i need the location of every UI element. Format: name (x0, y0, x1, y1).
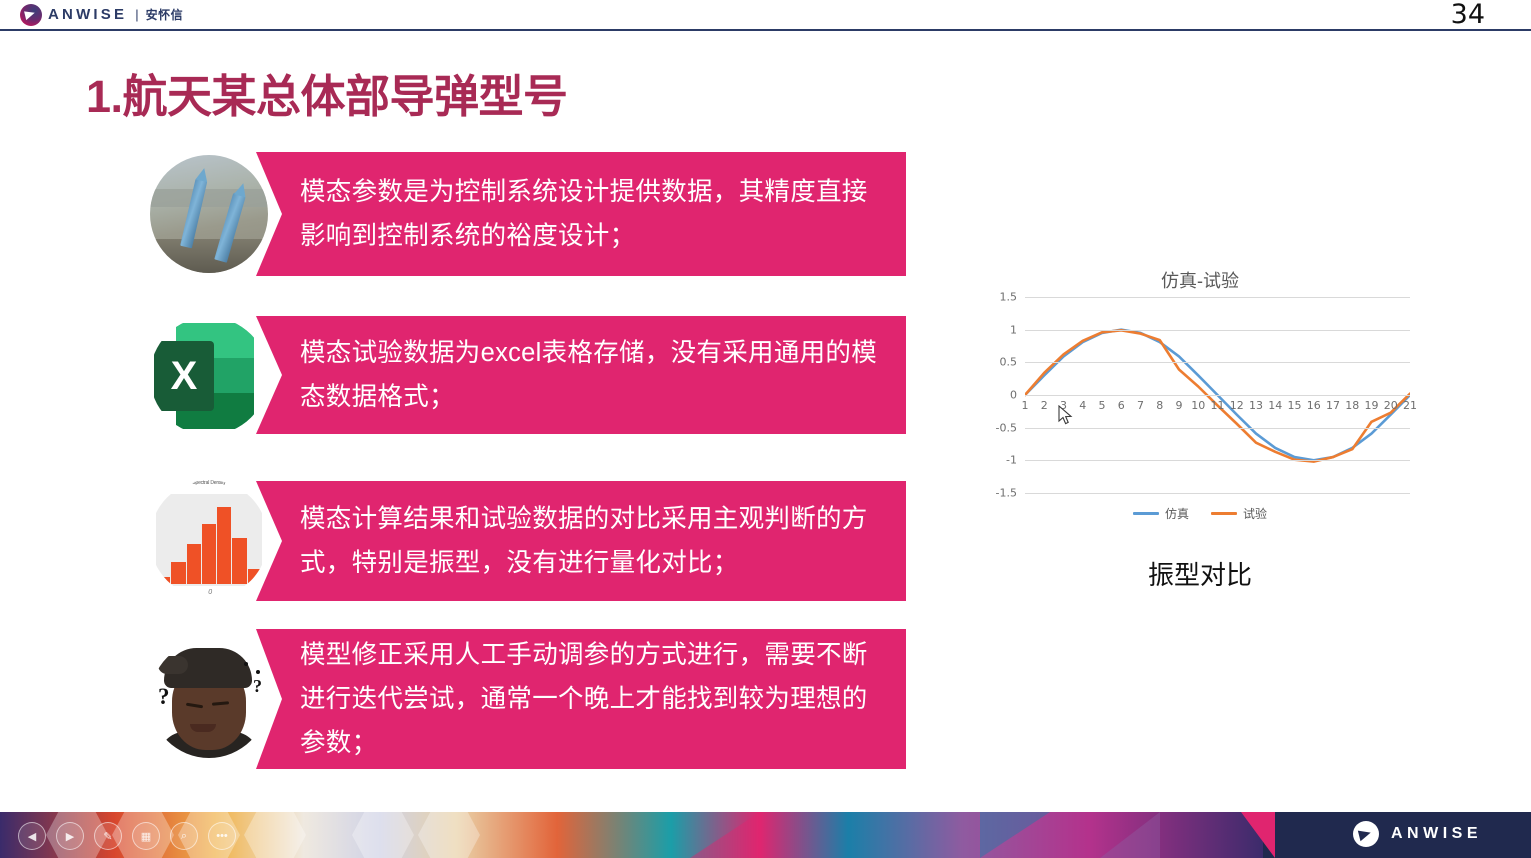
chart-title: 仿真-试验 (960, 267, 1440, 293)
histogram-xtick: 0 (208, 589, 212, 596)
chart-gridline (1025, 362, 1410, 363)
next-slide-button[interactable]: ▶ (56, 822, 84, 850)
chart-xtick-label: 4 (1079, 399, 1086, 412)
legend-swatch (1211, 512, 1237, 515)
chart-xtick-label: 10 (1191, 399, 1205, 412)
chart-xtick-label: 17 (1326, 399, 1340, 412)
bullet-text-2: 模态试验数据为excel表格存储，没有采用通用的模态数据格式； (256, 331, 906, 419)
footer-logo: ANWISE (1353, 821, 1482, 847)
slide-footer-bar: ANWISE ◀▶✎▦⌕••• (0, 812, 1531, 858)
bullet-list: 模态参数是为控制系统设计提供数据，其精度直接影响到控制系统的裕度设计； 模态试验… (0, 0, 930, 858)
chart-xtick-label: 2 (1041, 399, 1048, 412)
zoom-in-button[interactable]: ⌕ (170, 822, 198, 850)
bullet-text-1: 模态参数是为控制系统设计提供数据，其精度直接影响到控制系统的裕度设计； (256, 170, 906, 258)
histogram-chart-icon: Spectral Density -1 0 1 (150, 480, 268, 598)
chart-xtick-label: 19 (1365, 399, 1379, 412)
chart-xtick-label: 8 (1156, 399, 1163, 412)
more-options-button[interactable]: ••• (208, 822, 236, 850)
histogram-xtick: 1 (243, 589, 247, 596)
chart-xtick-label: 11 (1211, 399, 1225, 412)
all-slides-button[interactable]: ▦ (132, 822, 160, 850)
chart-legend: 仿真试验 (960, 505, 1440, 522)
bullet-text-4: 模型修正采用人工手动调参的方式进行，需要不断进行迭代尝试，通常一个晚上才能找到较… (256, 633, 906, 765)
chart-xtick-label: 6 (1118, 399, 1125, 412)
footer-brand-block: ANWISE (1263, 812, 1531, 858)
presentation-control-bar[interactable]: ◀▶✎▦⌕••• (18, 822, 236, 850)
chart-xtick-label: 12 (1230, 399, 1244, 412)
bullet-banner-4: 模型修正采用人工手动调参的方式进行，需要不断进行迭代尝试，通常一个晚上才能找到较… (256, 629, 906, 769)
chart-gridline (1025, 428, 1410, 429)
chart-gridline (1025, 493, 1410, 494)
footer-logo-text: ANWISE (1391, 825, 1482, 843)
anwise-swoosh-icon (1353, 821, 1379, 847)
bullet-banner-3: 模态计算结果和试验数据的对比采用主观判断的方式，特别是振型，没有进行量化对比； (256, 481, 906, 601)
chart-xtick-label: 15 (1288, 399, 1302, 412)
legend-label: 仿真 (1165, 505, 1189, 522)
chart-gridline (1025, 460, 1410, 461)
legend-label: 试验 (1243, 505, 1267, 522)
chart-xtick-label: 21 (1403, 399, 1417, 412)
chart-ytick-label: 0 (1010, 389, 1017, 402)
question-mark-icon: ? (253, 676, 262, 697)
chart-plot-area: 1.510.50-0.5-1-1.51234567891011121314151… (1025, 297, 1410, 493)
chart-xtick-label: 5 (1099, 399, 1106, 412)
chart-panel: 仿真-试验 1.510.50-0.5-1-1.51234567891011121… (960, 255, 1480, 605)
chart-xtick-label: 1 (1022, 399, 1029, 412)
histogram-xticks: -1 0 1 (156, 589, 262, 596)
chart-gridline (1025, 297, 1410, 298)
bullet-text-3: 模态计算结果和试验数据的对比采用主观判断的方式，特别是振型，没有进行量化对比； (256, 497, 906, 585)
pen-tool-button[interactable]: ✎ (94, 822, 122, 850)
chart-xtick-label: 13 (1249, 399, 1263, 412)
mouse-cursor-icon (1058, 405, 1074, 427)
chart-ytick-label: -1.5 (996, 487, 1017, 500)
question-mark-icon: ? (158, 684, 170, 710)
chart-caption: 振型对比 (960, 555, 1440, 592)
bullet-banner-2: 模态试验数据为excel表格存储，没有采用通用的模态数据格式； (256, 316, 906, 434)
chart-legend-item: 试验 (1211, 505, 1267, 522)
chart-ytick-label: 0.5 (1000, 356, 1018, 369)
chart-xtick-label: 14 (1268, 399, 1282, 412)
chart-ytick-label: -1 (1006, 454, 1017, 467)
chart-legend-item: 仿真 (1133, 505, 1189, 522)
chart-gridline (1025, 330, 1410, 331)
chart-xtick-label: 7 (1137, 399, 1144, 412)
chart-xtick-label: 18 (1345, 399, 1359, 412)
chart-xtick-label: 9 (1176, 399, 1183, 412)
excel-letter: X (154, 341, 214, 411)
chart-ytick-label: 1 (1010, 323, 1017, 336)
legend-swatch (1133, 512, 1159, 515)
histogram-xtick: -1 (171, 589, 177, 596)
bullet-banner-1: 模态参数是为控制系统设计提供数据，其精度直接影响到控制系统的裕度设计； (256, 152, 906, 276)
chart-xtick-label: 16 (1307, 399, 1321, 412)
previous-slide-button[interactable]: ◀ (18, 822, 46, 850)
confused-face-icon: ? ? (150, 640, 268, 758)
chart-xtick-label: 20 (1384, 399, 1398, 412)
chart-ytick-label: 1.5 (1000, 291, 1018, 304)
histogram-caption: Spectral Density (150, 480, 268, 486)
chart-ytick-label: -0.5 (996, 421, 1017, 434)
excel-logo-icon: X (150, 317, 268, 435)
chart-gridline (1025, 395, 1410, 396)
missile-photo-icon (150, 155, 268, 273)
page-number: 34 (1451, 0, 1485, 30)
